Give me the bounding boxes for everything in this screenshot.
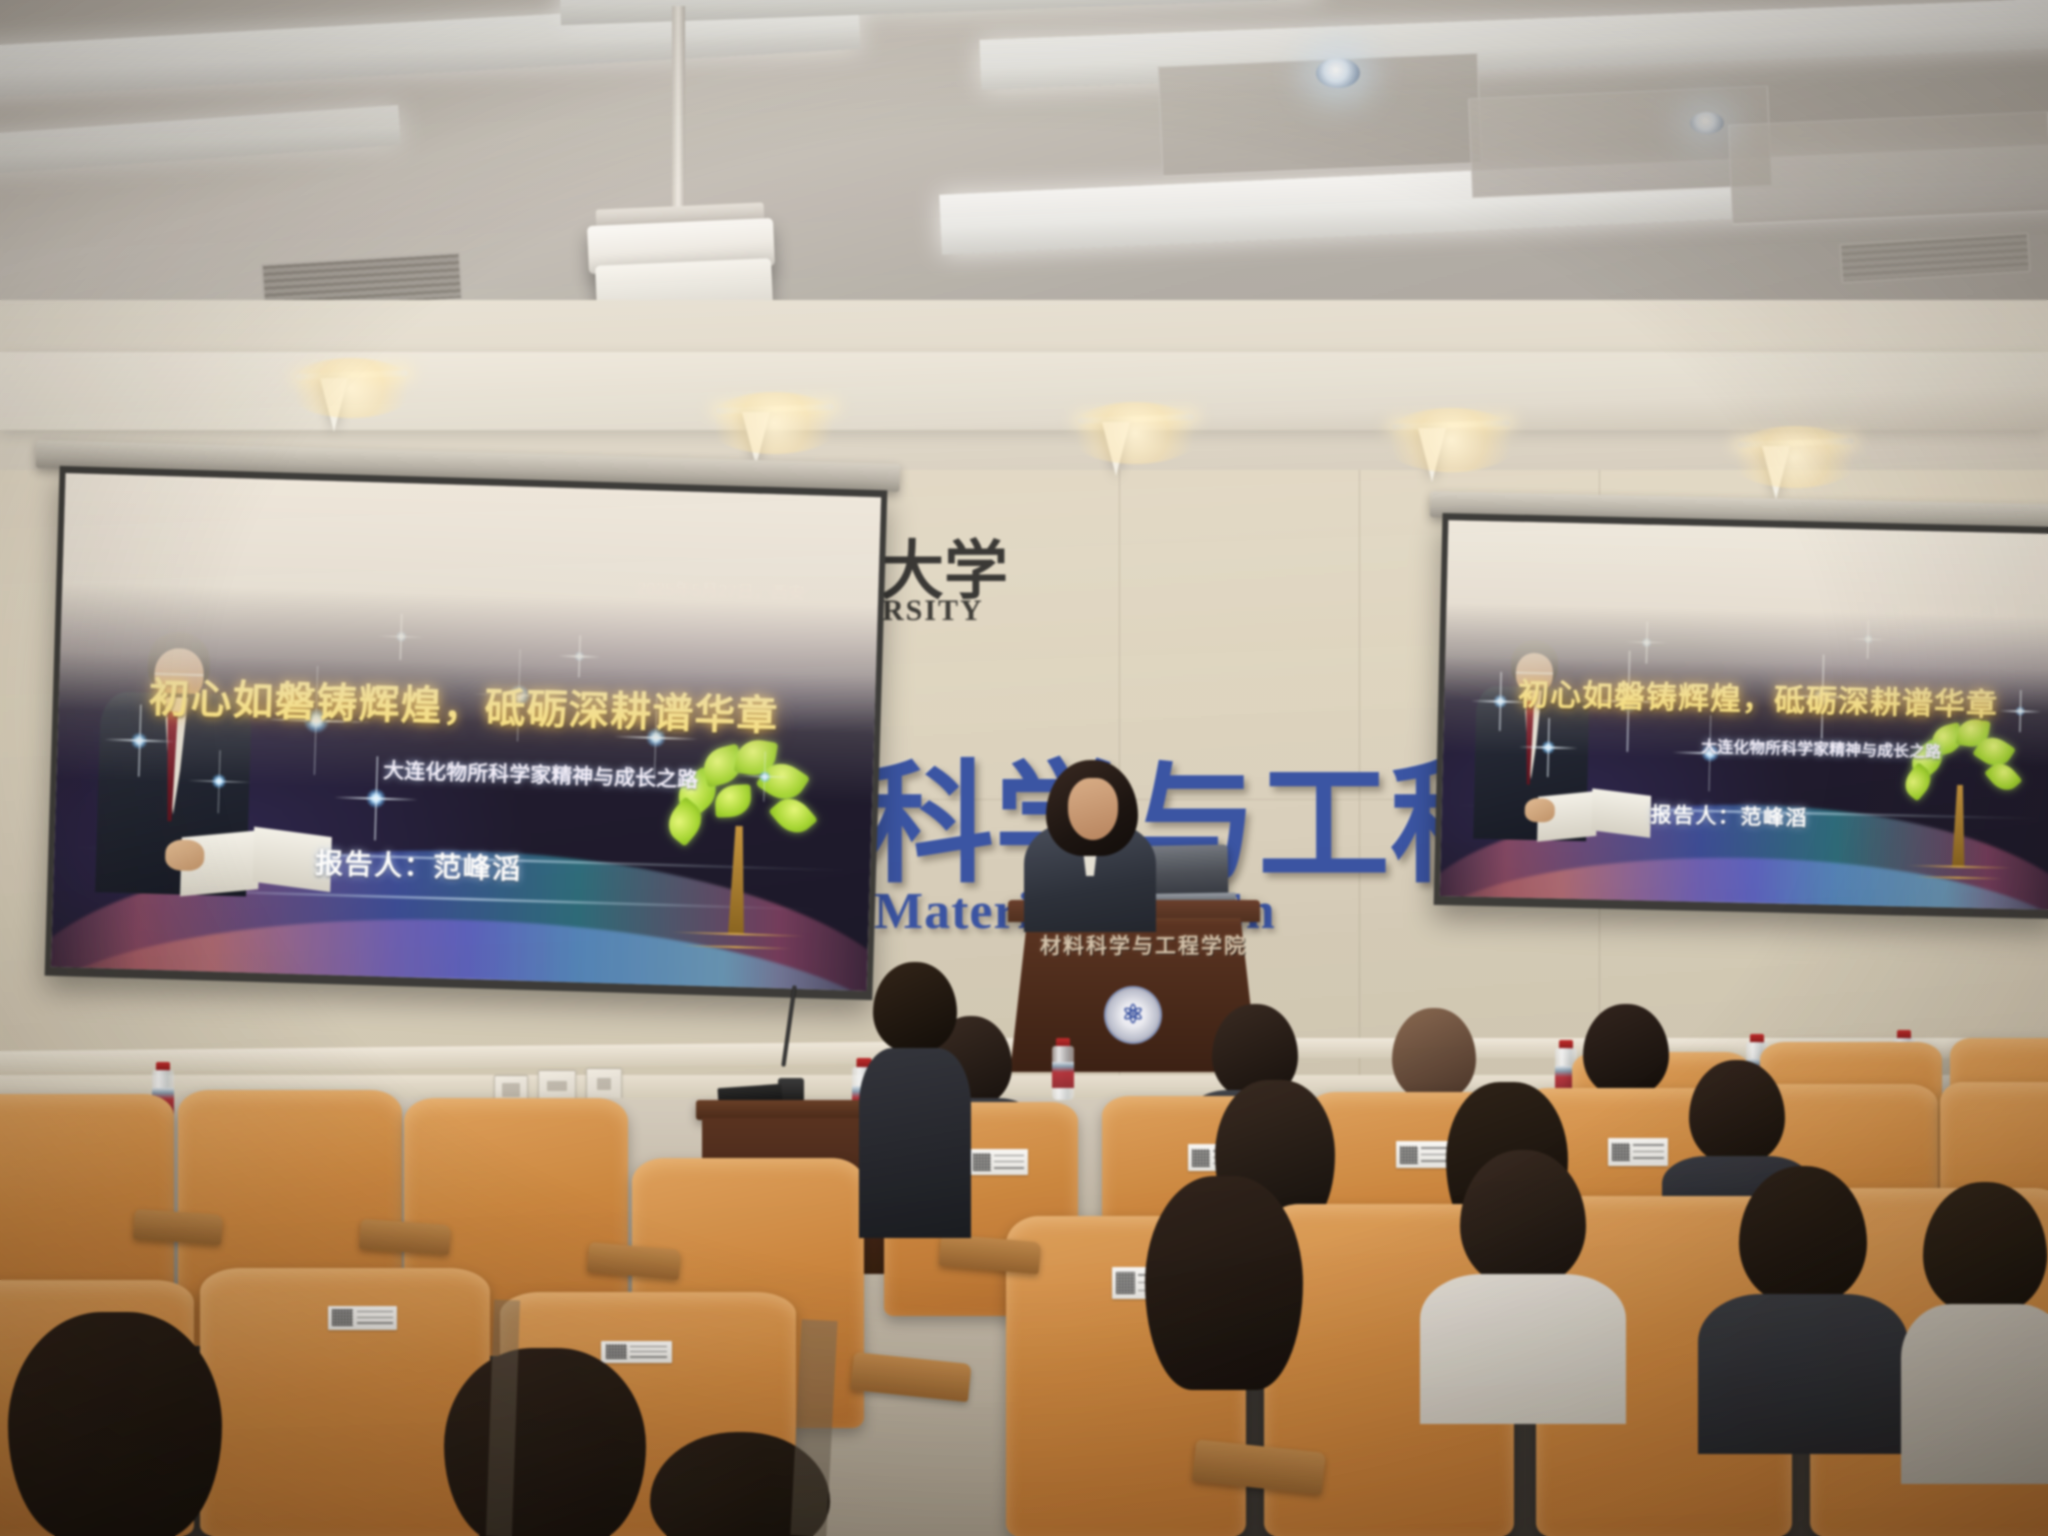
slide-subtitle: 大连化物所科学家精神与成长之路 xyxy=(383,754,699,793)
seat-qr-label xyxy=(328,1306,398,1330)
audience-member xyxy=(1124,1176,1324,1476)
air-vent xyxy=(1839,232,2031,284)
spotlight-glow xyxy=(1068,402,1202,464)
seat-armrest xyxy=(133,1209,223,1245)
projection-screen-left: 2025年5月27日，西安 初心如磐铸辉煌，砥砺深耕谱华章 大连化物所科学家精神… xyxy=(45,466,888,1000)
projection-screen-right: 2025年5月27日，西安 初心如磐铸辉煌，砥砺深耕谱华章 大连化物所科学家精神… xyxy=(1434,513,2048,919)
ceiling-panel xyxy=(1468,86,1772,198)
audience-member xyxy=(1418,1150,1628,1470)
slide-presenter: 报告人：范峰滔 xyxy=(1650,799,1808,833)
seat-qr-label xyxy=(969,1149,1027,1175)
presenter-face xyxy=(1068,778,1118,840)
ceiling-panel xyxy=(1728,111,2048,224)
lecture-hall-photo: EPSON 大学 xyxy=(0,0,2048,1536)
spotlight-glow xyxy=(1382,408,1520,472)
slide-sparkle xyxy=(574,651,584,661)
seat-armrest xyxy=(359,1219,451,1255)
spotlight-glow xyxy=(706,392,842,454)
slide-date: 2025年5月27日，西安 xyxy=(1899,602,2018,622)
slide-date: 2025年5月27日，西安 xyxy=(636,574,805,604)
slide-right: 2025年5月27日，西安 初心如磐铸辉煌，砥砺深耕谱华章 大连化物所科学家精神… xyxy=(1440,520,2048,910)
spotlight-glow xyxy=(1728,426,1862,488)
university-emblem: ⚛ xyxy=(1104,986,1162,1044)
recessed-spotlight xyxy=(1316,58,1360,88)
spotlight-glow xyxy=(286,358,416,418)
slide-left: 2025年5月27日，西安 初心如磐铸辉煌，砥砺深耕谱华章 大连化物所科学家精神… xyxy=(51,473,881,991)
projector-mount-pole xyxy=(672,6,685,218)
slide-sparkle xyxy=(1863,635,1872,644)
linear-light-strip xyxy=(979,0,2048,90)
slide-subtitle: 大连化物所科学家精神与成长之路 xyxy=(1701,733,1941,762)
podium-label: 材料科学与工程学院 xyxy=(1040,930,1247,960)
audience-member xyxy=(1900,1182,2048,1522)
linear-light-strip xyxy=(0,105,401,175)
audience-member xyxy=(0,1312,240,1536)
recessed-spotlight xyxy=(1690,112,1724,134)
water-bottle xyxy=(1052,1038,1074,1100)
audience-member xyxy=(1696,1166,1910,1496)
audience-member xyxy=(860,962,970,1262)
slide-presenter: 报告人：范峰滔 xyxy=(315,841,523,887)
wall-data-port-plate[interactable] xyxy=(586,1068,622,1100)
emblem-glyph: ⚛ xyxy=(1121,1000,1144,1030)
